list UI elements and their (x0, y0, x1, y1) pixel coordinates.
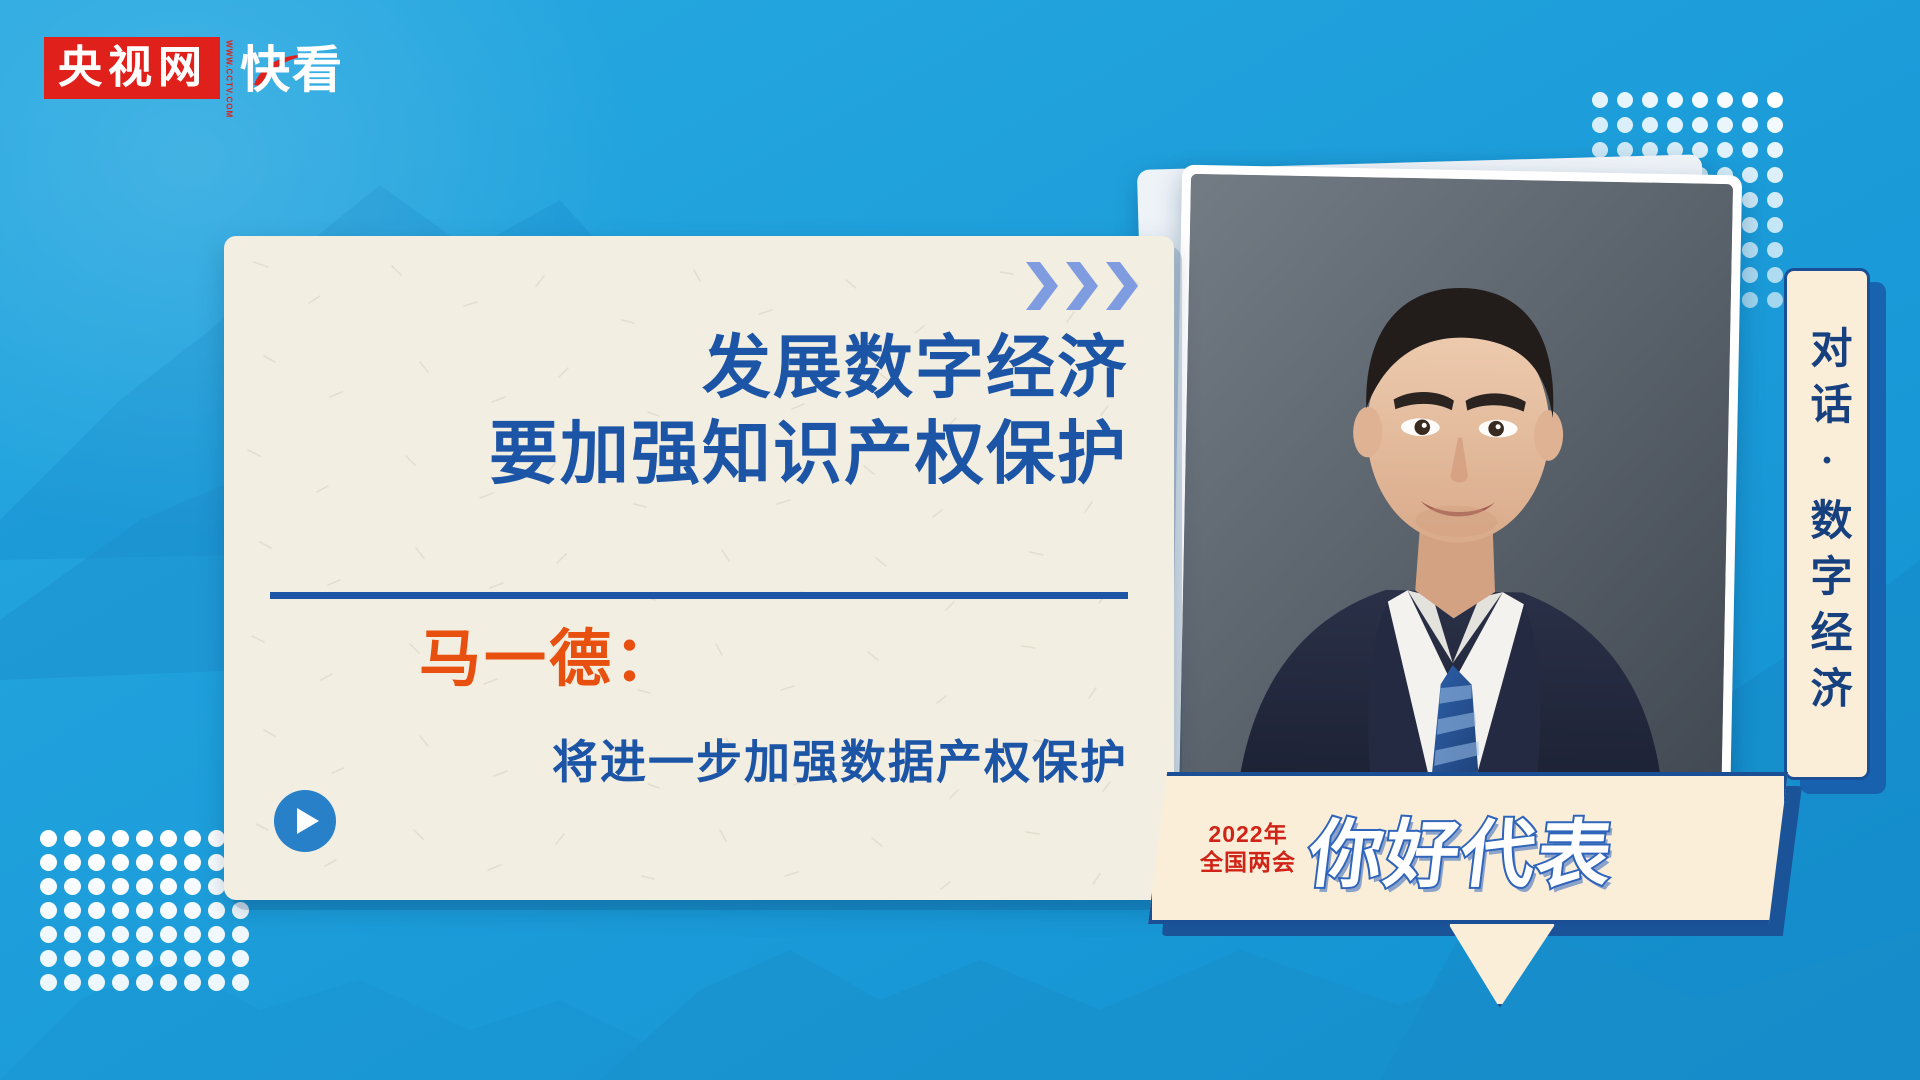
dot (64, 830, 81, 847)
badge-year: 2022年 (1200, 820, 1296, 848)
badge-event: 全国两会 (1200, 848, 1296, 876)
dot (1742, 217, 1758, 233)
dot (160, 950, 177, 967)
dot (1742, 267, 1758, 283)
dot (208, 950, 225, 967)
dot (1717, 142, 1733, 158)
logo-url: WWW.CCTV.COM (225, 40, 234, 96)
cctv-logo[interactable]: 央视网 WWW.CCTV.COM 快看 (44, 28, 344, 108)
dot (64, 902, 81, 919)
dot (1767, 292, 1783, 308)
dot (1667, 92, 1683, 108)
dot (112, 830, 129, 847)
dot (1742, 292, 1758, 308)
topic-ribbon: 对话·数字经济 (1784, 268, 1870, 780)
dot (208, 878, 225, 895)
dot (184, 830, 201, 847)
logo-sub-brand-text: 快看 (240, 42, 344, 98)
logo-sub-brand: 快看 (240, 45, 344, 95)
dot (88, 926, 105, 943)
headline: 发展数字经济 要加强知识产权保护 (224, 328, 1128, 494)
headline-card: 发展数字经济 要加强知识产权保护 马一德： 将进一步加强数据产权保护 (224, 236, 1174, 900)
speaker-name: 马一德： (270, 626, 1128, 694)
dot (1742, 242, 1758, 258)
dot (112, 878, 129, 895)
dot (112, 902, 129, 919)
dot (112, 926, 129, 943)
topic-ribbon-text: 对话·数字经济 (1806, 326, 1848, 722)
dot (1742, 142, 1758, 158)
dot (1592, 92, 1608, 108)
dot (208, 830, 225, 847)
headline-line-2: 要加强知识产权保护 (224, 414, 1128, 494)
dot (88, 854, 105, 871)
dot (1742, 117, 1758, 133)
dot (232, 926, 249, 943)
dot (184, 950, 201, 967)
divider-rule (270, 592, 1128, 599)
dot (136, 926, 153, 943)
dot (208, 854, 225, 871)
portrait-photo (1179, 174, 1733, 814)
dot (1767, 167, 1783, 183)
dot (64, 950, 81, 967)
dot (1717, 92, 1733, 108)
dot (232, 950, 249, 967)
dot (208, 902, 225, 919)
dot (1692, 117, 1708, 133)
poster-stage: 央视网 WWW.CCTV.COM 快看 (0, 0, 1920, 1080)
dot (112, 974, 129, 991)
badge-slogan: 你好代表 (1303, 795, 1620, 902)
dot (1717, 117, 1733, 133)
subtitle-line: 将进一步加强数据产权保护 (270, 726, 1128, 792)
dot (160, 878, 177, 895)
dot (208, 926, 225, 943)
dot (1742, 92, 1758, 108)
logo-red-box: 央视网 (44, 37, 220, 99)
dot (1692, 92, 1708, 108)
dot (1667, 117, 1683, 133)
dot (40, 902, 57, 919)
dot (160, 830, 177, 847)
dot (160, 854, 177, 871)
play-icon (297, 808, 319, 834)
dot (64, 974, 81, 991)
program-badge: 2022年 全国两会 你好代表 (1148, 772, 1808, 992)
dot (1592, 142, 1608, 158)
dot (88, 830, 105, 847)
dot (136, 950, 153, 967)
dot (1617, 92, 1633, 108)
dot (40, 854, 57, 871)
dot (136, 974, 153, 991)
badge-body: 2022年 全国两会 你好代表 (1148, 772, 1788, 924)
dot (136, 878, 153, 895)
dot (40, 830, 57, 847)
dot (136, 830, 153, 847)
portrait-frame (1170, 165, 1742, 824)
dot (184, 878, 201, 895)
dot (1642, 117, 1658, 133)
dot (160, 974, 177, 991)
badge-meta: 2022年 全国两会 (1200, 820, 1296, 876)
dot (1767, 117, 1783, 133)
dot (160, 926, 177, 943)
dot (184, 974, 201, 991)
dot (1742, 192, 1758, 208)
logo-brand-cn: 央视网 (58, 46, 208, 90)
dot (64, 878, 81, 895)
dot (160, 902, 177, 919)
dot (136, 854, 153, 871)
dot (1767, 267, 1783, 283)
dot (1767, 242, 1783, 258)
headline-line-1: 发展数字经济 (224, 328, 1128, 408)
dot (88, 878, 105, 895)
dot (1767, 92, 1783, 108)
dot (112, 950, 129, 967)
dot (1742, 167, 1758, 183)
dot (184, 902, 201, 919)
dot (88, 974, 105, 991)
dot (1592, 117, 1608, 133)
dot (88, 902, 105, 919)
dot (40, 878, 57, 895)
dot (232, 974, 249, 991)
dot (184, 926, 201, 943)
dot (1642, 92, 1658, 108)
dot (1617, 117, 1633, 133)
dot (40, 950, 57, 967)
dot (112, 854, 129, 871)
dot (1767, 192, 1783, 208)
dot (40, 926, 57, 943)
dot (208, 974, 225, 991)
dot (1767, 142, 1783, 158)
dot (88, 950, 105, 967)
dot (1767, 217, 1783, 233)
dot (64, 926, 81, 943)
dot (40, 974, 57, 991)
dot-grid-bottomleft (40, 830, 254, 1000)
play-button[interactable] (274, 790, 336, 852)
dot (184, 854, 201, 871)
dot (136, 902, 153, 919)
dot (64, 854, 81, 871)
